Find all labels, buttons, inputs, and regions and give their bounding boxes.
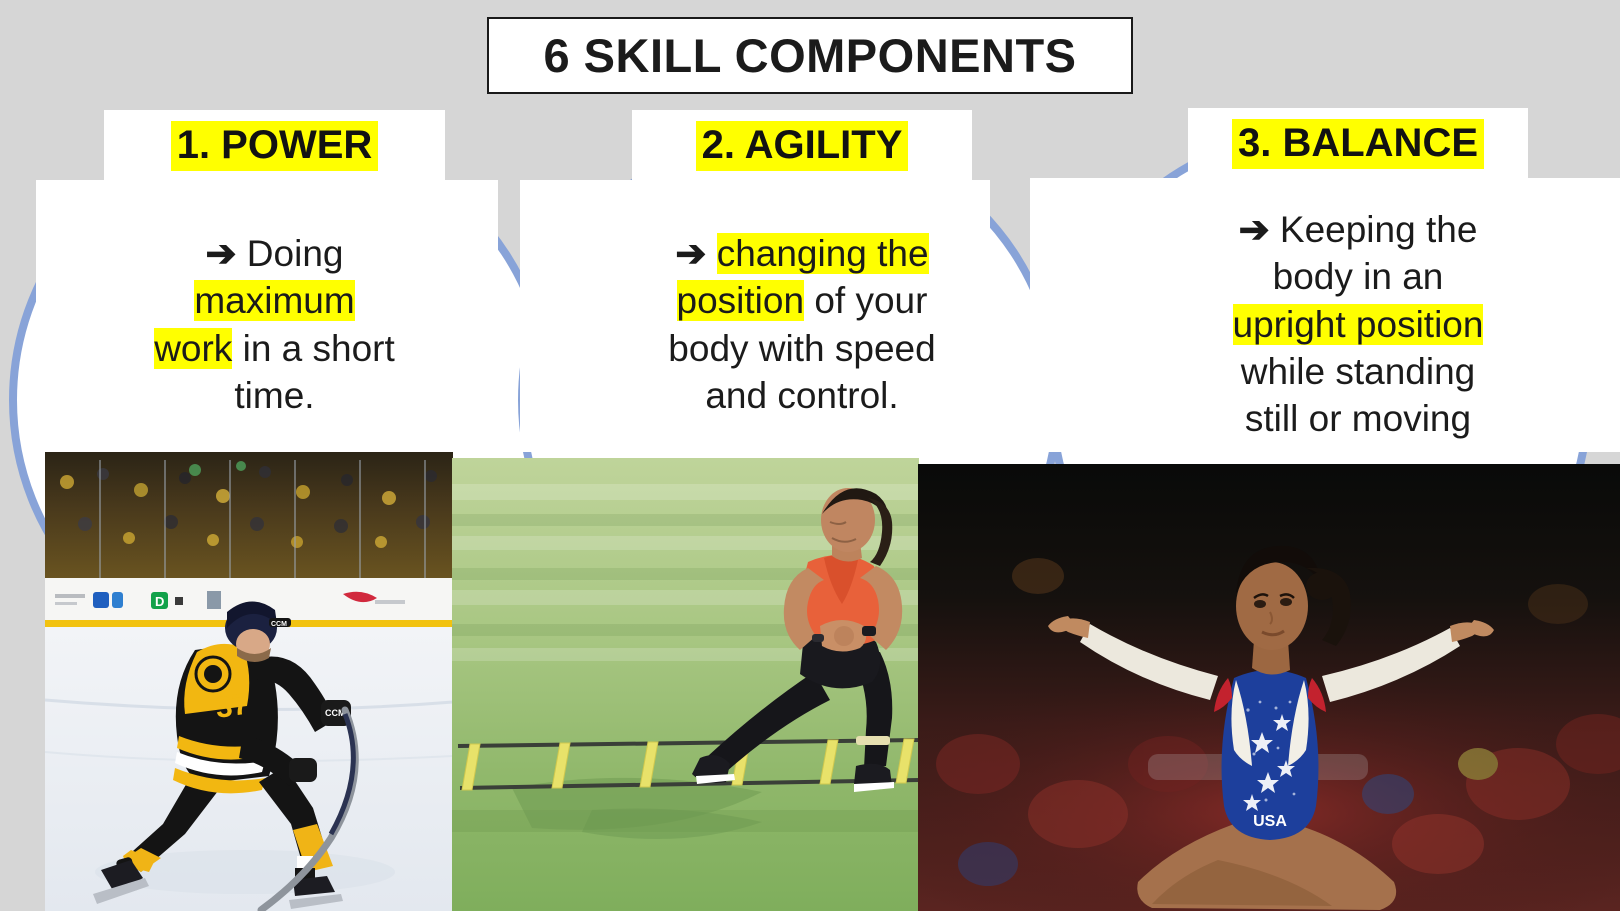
power-line-3: work in a short (104, 325, 445, 372)
agility-line-3: body with speed (632, 325, 972, 372)
balance-line-5: still or moving (1188, 395, 1528, 442)
power-line-3-plain: in a short (232, 328, 394, 369)
leotard-usa-text: USA (1253, 813, 1287, 830)
agility-line-1: ➔ changing the (632, 230, 972, 277)
balance-heading: 3. BALANCE (1232, 119, 1484, 170)
image-agility-ladder-drill (452, 458, 919, 911)
component-card-balance: 3. BALANCE ➔ Keeping the body in an upri… (1188, 108, 1528, 451)
agility-heading: 2. AGILITY (696, 121, 909, 172)
balance-line-1: ➔ Keeping the (1188, 206, 1528, 253)
svg-text:37: 37 (213, 688, 251, 725)
power-heading: 1. POWER (171, 121, 379, 172)
balance-description: ➔ Keeping the body in an upright positio… (1188, 180, 1528, 451)
power-line-2-text: maximum (194, 280, 354, 321)
power-line-1: ➔ Doing (104, 230, 445, 277)
slide-title: 6 SKILL COMPONENTS (543, 28, 1076, 83)
balance-line-4-text: while standing (1241, 351, 1475, 392)
image-power-hockey-player: D (45, 452, 453, 911)
agility-line-4: and control. (632, 372, 972, 419)
balance-line-5-text: still or moving (1245, 398, 1471, 439)
agility-line-3-text: body with speed (668, 328, 935, 369)
arrow-icon: ➔ (675, 233, 706, 274)
balance-line-2: body in an (1188, 253, 1528, 300)
component-card-power: 1. POWER ➔ Doing maximum work in a short… (104, 110, 445, 427)
slide-title-box: 6 SKILL COMPONENTS (487, 17, 1133, 94)
power-line-2: maximum (104, 277, 445, 324)
arrow-icon: ➔ (206, 233, 237, 274)
balance-line-3: upright position (1188, 301, 1528, 348)
balance-line-2-text: body in an (1273, 256, 1444, 297)
svg-text:D: D (155, 594, 164, 609)
agility-line-2-plain: of your (804, 280, 927, 321)
agility-heading-box: 2. AGILITY (632, 110, 972, 182)
power-heading-box: 1. POWER (104, 110, 445, 182)
slide-canvas: 6 SKILL COMPONENTS 1. POWER ➔ Doing maxi… (0, 0, 1620, 911)
svg-text:CCM: CCM (271, 621, 287, 628)
agility-line-1-text: changing the (717, 233, 929, 274)
power-line-4: time. (104, 372, 445, 419)
agility-line-2: position of your (632, 277, 972, 324)
arrow-icon: ➔ (1239, 209, 1270, 250)
power-description: ➔ Doing maximum work in a short time. (104, 182, 445, 427)
agility-line-4-text: and control. (705, 375, 898, 416)
balance-line-1-text: Keeping the (1280, 209, 1478, 250)
power-line-4-text: time. (234, 375, 314, 416)
balance-heading-box: 3. BALANCE (1188, 108, 1528, 180)
image-balance-gymnast: USA (918, 464, 1620, 911)
balance-line-4: while standing (1188, 348, 1528, 395)
component-card-agility: 2. AGILITY ➔ changing the position of yo… (632, 110, 972, 427)
balance-line-3-text: upright position (1233, 304, 1484, 345)
power-line-3-highlight: work (154, 328, 232, 369)
power-line-1-text: Doing (247, 233, 344, 274)
agility-line-2-highlight: position (677, 280, 805, 321)
agility-description: ➔ changing the position of your body wit… (632, 182, 972, 427)
